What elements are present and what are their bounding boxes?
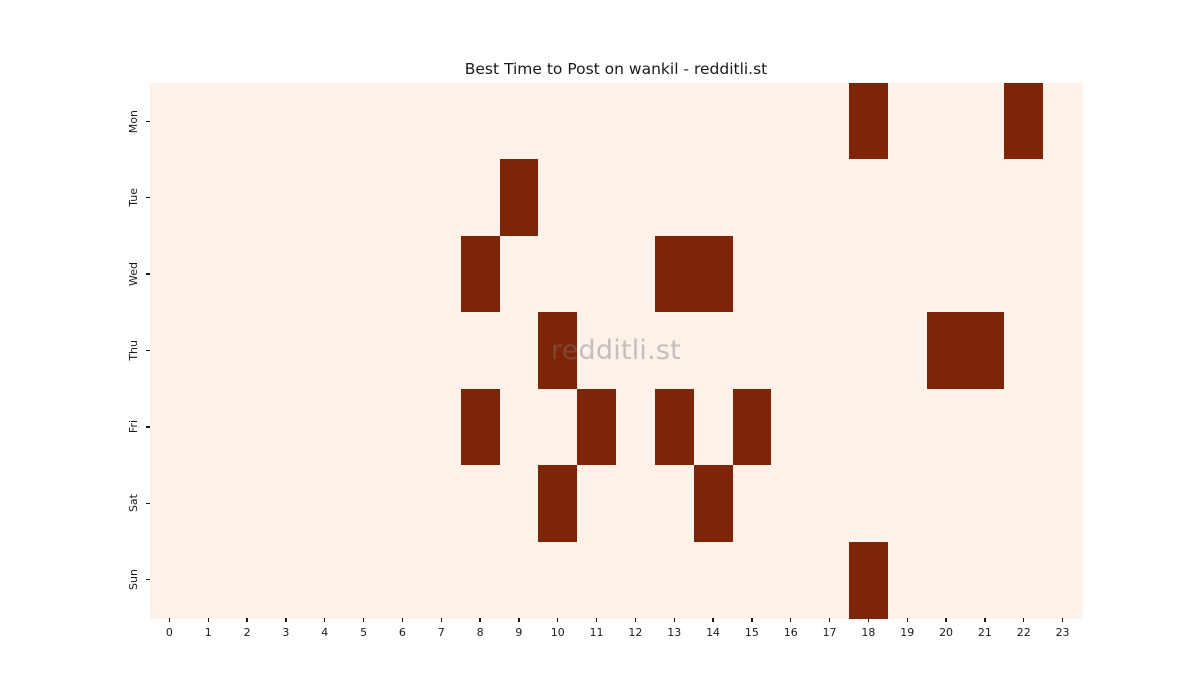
heatmap-cell: [500, 542, 539, 619]
heatmap-cell: [577, 312, 616, 389]
heatmap-cell: [344, 312, 383, 389]
heatmap-cell: [927, 389, 966, 466]
x-axis-tick-2: 2: [228, 618, 267, 639]
heatmap-cell: [422, 83, 461, 160]
heatmap-cell: [189, 389, 228, 466]
y-axis-tick-label: Sat: [128, 494, 139, 512]
x-axis-tick-label: 23: [1056, 626, 1070, 639]
heatmap-cell: [344, 465, 383, 542]
x-axis-tick-mark: [596, 618, 597, 622]
heatmap-cell: [228, 83, 267, 160]
heatmap-cell: [228, 236, 267, 313]
heatmap-cell: [305, 389, 344, 466]
heatmap-cell: [422, 159, 461, 236]
y-axis-tick-sat: Sat: [0, 465, 150, 541]
heatmap-cell: [150, 83, 189, 160]
heatmap-cell: [849, 389, 888, 466]
heatmap-cell: [305, 236, 344, 313]
heatmap-cell: [422, 542, 461, 619]
heatmap-cell: [927, 312, 966, 389]
heatmap-cell: [810, 389, 849, 466]
x-axis-tick-6: 6: [383, 618, 422, 639]
x-axis-tick-0: 0: [150, 618, 189, 639]
heatmap-cell: [849, 159, 888, 236]
heatmap-cell: [1004, 236, 1043, 313]
heatmap-cell: [810, 465, 849, 542]
x-axis-tick-1: 1: [189, 618, 228, 639]
x-axis-tick-13: 13: [655, 618, 694, 639]
heatmap-cell: [694, 542, 733, 619]
y-axis-tick-label: Tue: [128, 188, 139, 207]
heatmap-cell: [810, 236, 849, 313]
heatmap-cell: [810, 159, 849, 236]
heatmap-cell: [267, 159, 306, 236]
heatmap-cell: [500, 312, 539, 389]
x-axis-tick-label: 8: [477, 626, 484, 639]
heatmap-cell: [228, 159, 267, 236]
heatmap-cell: [228, 465, 267, 542]
x-axis-tick-label: 22: [1017, 626, 1031, 639]
heatmap-cell: [577, 83, 616, 160]
x-axis-tick-21: 21: [966, 618, 1005, 639]
x-axis-tick-mark: [635, 618, 636, 622]
heatmap-cell: [383, 236, 422, 313]
heatmap-cell: [500, 159, 539, 236]
x-axis-tick-mark: [557, 618, 558, 622]
heatmap-cell: [189, 159, 228, 236]
heatmap-cell: [461, 83, 500, 160]
heatmap-cell: [538, 159, 577, 236]
heatmap-cell: [1004, 389, 1043, 466]
heatmap-cell: [888, 465, 927, 542]
heatmap-cell: [694, 312, 733, 389]
heatmap-cell: [500, 465, 539, 542]
heatmap-cell: [888, 236, 927, 313]
y-axis-tick-label: Wed: [128, 262, 139, 286]
heatmap-cell: [694, 465, 733, 542]
heatmap-cell: [383, 389, 422, 466]
heatmap-cell: [849, 465, 888, 542]
heatmap-cell: [461, 159, 500, 236]
heatmap-plot-area: redditli.st: [150, 83, 1082, 618]
heatmap-cell: [655, 159, 694, 236]
heatmap-cell: [267, 465, 306, 542]
heatmap-cell: [228, 542, 267, 619]
heatmap-cell: [733, 542, 772, 619]
heatmap-cell: [267, 312, 306, 389]
heatmap-cell: [771, 83, 810, 160]
heatmap-cell: [771, 312, 810, 389]
x-axis-tick-mark: [363, 618, 364, 622]
heatmap-cell: [1043, 159, 1082, 236]
heatmap-cell: [655, 542, 694, 619]
x-axis-tick-15: 15: [733, 618, 772, 639]
heatmap-cell: [150, 312, 189, 389]
heatmap-cell: [267, 83, 306, 160]
heatmap-cell: [422, 465, 461, 542]
heatmap-cell: [577, 465, 616, 542]
heatmap-cell: [189, 542, 228, 619]
heatmap-cell: [577, 389, 616, 466]
x-axis-tick-5: 5: [344, 618, 383, 639]
x-axis-tick-mark: [479, 618, 480, 622]
y-axis-tick-mark: [146, 273, 150, 274]
x-axis: 01234567891011121314151617181920212223: [150, 618, 1082, 658]
heatmap-cell: [538, 542, 577, 619]
x-axis-tick-label: 14: [706, 626, 720, 639]
heatmap-cell: [888, 542, 927, 619]
heatmap-cell: [344, 542, 383, 619]
x-axis-tick-12: 12: [616, 618, 655, 639]
heatmap-cell: [616, 236, 655, 313]
heatmap-cell: [1004, 83, 1043, 160]
heatmap-cell: [538, 389, 577, 466]
heatmap-cell: [616, 389, 655, 466]
heatmap-cell: [461, 236, 500, 313]
heatmap-cell: [1043, 389, 1082, 466]
heatmap-cell: [422, 312, 461, 389]
heatmap-cell: [927, 236, 966, 313]
y-axis-tick-tue: Tue: [0, 159, 150, 235]
x-axis-tick-label: 15: [745, 626, 759, 639]
heatmap-cell: [1004, 159, 1043, 236]
heatmap-cell: [1043, 542, 1082, 619]
heatmap-cell: [966, 159, 1005, 236]
x-axis-tick-label: 6: [399, 626, 406, 639]
x-axis-tick-9: 9: [500, 618, 539, 639]
heatmap-cell: [189, 83, 228, 160]
y-axis-tick-fri: Fri: [0, 389, 150, 465]
heatmap-cell: [461, 542, 500, 619]
heatmap-cell: [966, 236, 1005, 313]
heatmap-cell: [383, 159, 422, 236]
heatmap-cell: [538, 236, 577, 313]
heatmap-cell: [966, 465, 1005, 542]
heatmap-cell: [538, 312, 577, 389]
x-axis-tick-label: 17: [823, 626, 837, 639]
heatmap-cell: [927, 542, 966, 619]
x-axis-tick-23: 23: [1043, 618, 1082, 639]
chart-title: Best Time to Post on wankil - redditli.s…: [150, 60, 1082, 78]
y-axis-tick-mark: [146, 503, 150, 504]
x-axis-tick-mark: [907, 618, 908, 622]
heatmap-cell: [616, 465, 655, 542]
y-axis-tick-mark: [146, 579, 150, 580]
heatmap-cell: [422, 236, 461, 313]
x-axis-tick-label: 4: [321, 626, 328, 639]
x-axis-tick-8: 8: [461, 618, 500, 639]
x-axis-tick-label: 20: [939, 626, 953, 639]
x-axis-tick-10: 10: [538, 618, 577, 639]
heatmap-cell: [694, 389, 733, 466]
x-axis-tick-label: 7: [438, 626, 445, 639]
heatmap-cell: [461, 312, 500, 389]
x-axis-tick-mark: [712, 618, 713, 622]
heatmap-cell: [538, 465, 577, 542]
x-axis-tick-label: 13: [667, 626, 681, 639]
heatmap-cell: [383, 465, 422, 542]
x-axis-tick-3: 3: [267, 618, 306, 639]
heatmap-cell: [500, 236, 539, 313]
heatmap-cell: [694, 236, 733, 313]
heatmap-cell: [577, 159, 616, 236]
heatmap-cell: [461, 465, 500, 542]
x-axis-tick-18: 18: [849, 618, 888, 639]
heatmap-cell: [733, 465, 772, 542]
x-axis-tick-label: 18: [861, 626, 875, 639]
x-axis-tick-19: 19: [888, 618, 927, 639]
heatmap-cell: [888, 159, 927, 236]
heatmap-cell: [966, 312, 1005, 389]
heatmap-cell: [771, 389, 810, 466]
x-axis-tick-mark: [790, 618, 791, 622]
x-axis-tick-mark: [285, 618, 286, 622]
heatmap-cell: [849, 542, 888, 619]
heatmap-cell: [655, 389, 694, 466]
heatmap-cell: [733, 83, 772, 160]
y-axis: MonTueWedThuFriSatSun: [0, 83, 150, 618]
x-axis-tick-mark: [829, 618, 830, 622]
y-axis-tick-label: Fri: [128, 420, 139, 433]
x-axis-tick-17: 17: [810, 618, 849, 639]
x-axis-tick-20: 20: [927, 618, 966, 639]
heatmap-cell: [694, 83, 733, 160]
heatmap-cell: [228, 312, 267, 389]
heatmap-cell: [344, 389, 383, 466]
heatmap-cell: [189, 236, 228, 313]
x-axis-tick-mark: [208, 618, 209, 622]
heatmap-cell: [1004, 465, 1043, 542]
heatmap-cell: [305, 83, 344, 160]
heatmap-cell: [655, 83, 694, 160]
heatmap-cell: [888, 389, 927, 466]
x-axis-tick-mark: [868, 618, 869, 622]
heatmap-cell: [344, 236, 383, 313]
x-axis-tick-7: 7: [422, 618, 461, 639]
heatmap-cell: [228, 389, 267, 466]
heatmap-cell: [267, 542, 306, 619]
y-axis-tick-mark: [146, 197, 150, 198]
x-axis-tick-mark: [751, 618, 752, 622]
x-axis-tick-label: 9: [515, 626, 522, 639]
heatmap-cell: [150, 159, 189, 236]
y-axis-tick-label: Thu: [128, 340, 139, 361]
x-axis-tick-mark: [246, 618, 247, 622]
heatmap-cell: [1043, 83, 1082, 160]
heatmap-cell: [577, 542, 616, 619]
heatmap-cell: [810, 542, 849, 619]
heatmap-cell: [189, 312, 228, 389]
heatmap-cell: [383, 312, 422, 389]
heatmap-cell: [733, 159, 772, 236]
x-axis-tick-label: 12: [628, 626, 642, 639]
y-axis-tick-mon: Mon: [0, 83, 150, 159]
heatmap-cell: [150, 542, 189, 619]
x-axis-tick-mark: [674, 618, 675, 622]
heatmap-cell: [422, 389, 461, 466]
heatmap-cell: [305, 312, 344, 389]
heatmap-cell: [927, 83, 966, 160]
y-axis-tick-label: Sun: [128, 569, 139, 590]
heatmap-cell: [810, 83, 849, 160]
heatmap-cell: [344, 159, 383, 236]
heatmap-cell: [655, 465, 694, 542]
x-axis-tick-label: 0: [166, 626, 173, 639]
heatmap-cell: [927, 159, 966, 236]
x-axis-tick-label: 1: [205, 626, 212, 639]
heatmap-cell: [927, 465, 966, 542]
x-axis-tick-14: 14: [694, 618, 733, 639]
heatmap-cell: [1043, 312, 1082, 389]
x-axis-tick-11: 11: [577, 618, 616, 639]
heatmap-cell: [616, 159, 655, 236]
heatmap-cell: [733, 236, 772, 313]
y-axis-tick-label: Mon: [128, 110, 139, 133]
heatmap-cell: [189, 465, 228, 542]
heatmap-figure: Best Time to Post on wankil - redditli.s…: [0, 0, 1200, 700]
heatmap-cell: [655, 312, 694, 389]
y-axis-tick-thu: Thu: [0, 312, 150, 388]
y-axis-tick-mark: [146, 350, 150, 351]
heatmap-cell: [733, 312, 772, 389]
x-axis-tick-label: 3: [282, 626, 289, 639]
heatmap-cell: [771, 465, 810, 542]
x-axis-tick-label: 19: [900, 626, 914, 639]
heatmap-cell: [344, 83, 383, 160]
heatmap-cell: [888, 312, 927, 389]
x-axis-tick-mark: [169, 618, 170, 622]
y-axis-tick-wed: Wed: [0, 236, 150, 312]
x-axis-tick-label: 21: [978, 626, 992, 639]
heatmap-cell: [771, 159, 810, 236]
heatmap-cell: [383, 83, 422, 160]
x-axis-tick-mark: [945, 618, 946, 622]
heatmap-cell: [150, 389, 189, 466]
x-axis-tick-16: 16: [771, 618, 810, 639]
heatmap-cell: [1004, 542, 1043, 619]
x-axis-tick-mark: [984, 618, 985, 622]
heatmap-cell: [616, 542, 655, 619]
heatmap-cell: [461, 389, 500, 466]
heatmap-cell: [305, 159, 344, 236]
heatmap-cell: [616, 312, 655, 389]
x-axis-tick-mark: [1023, 618, 1024, 622]
x-axis-tick-22: 22: [1004, 618, 1043, 639]
x-axis-tick-label: 11: [590, 626, 604, 639]
x-axis-tick-label: 10: [551, 626, 565, 639]
heatmap-cell: [655, 236, 694, 313]
heatmap-cell: [500, 389, 539, 466]
heatmap-cell: [966, 542, 1005, 619]
heatmap-cell: [966, 389, 1005, 466]
x-axis-tick-4: 4: [305, 618, 344, 639]
heatmap-cell: [849, 312, 888, 389]
heatmap-cell: [771, 236, 810, 313]
y-axis-tick-mark: [146, 121, 150, 122]
x-axis-tick-mark: [518, 618, 519, 622]
heatmap-cell: [500, 83, 539, 160]
heatmap-cell: [1043, 236, 1082, 313]
x-axis-tick-label: 16: [784, 626, 798, 639]
heatmap-cell: [1004, 312, 1043, 389]
heatmap-cell: [383, 542, 422, 619]
heatmap-cell: [733, 389, 772, 466]
heatmap-cell: [150, 236, 189, 313]
heatmap-cell: [694, 159, 733, 236]
x-axis-tick-mark: [324, 618, 325, 622]
heatmap-cell: [849, 236, 888, 313]
heatmap-cell: [538, 83, 577, 160]
heatmap-cell: [267, 236, 306, 313]
x-axis-tick-mark: [441, 618, 442, 622]
x-axis-tick-label: 5: [360, 626, 367, 639]
heatmap-cell: [305, 542, 344, 619]
x-axis-tick-mark: [1062, 618, 1063, 622]
heatmap-cell: [849, 83, 888, 160]
x-axis-tick-label: 2: [244, 626, 251, 639]
x-axis-tick-mark: [402, 618, 403, 622]
y-axis-tick-mark: [146, 426, 150, 427]
heatmap-cell: [150, 465, 189, 542]
heatmap-cell: [305, 465, 344, 542]
heatmap-cell: [771, 542, 810, 619]
heatmap-cell: [267, 389, 306, 466]
heatmap-cell: [616, 83, 655, 160]
heatmap-cell: [1043, 465, 1082, 542]
heatmap-cell: [810, 312, 849, 389]
heatmap-cell: [888, 83, 927, 160]
heatmap-cell: [966, 83, 1005, 160]
heatmap-cell: [577, 236, 616, 313]
y-axis-tick-sun: Sun: [0, 542, 150, 618]
